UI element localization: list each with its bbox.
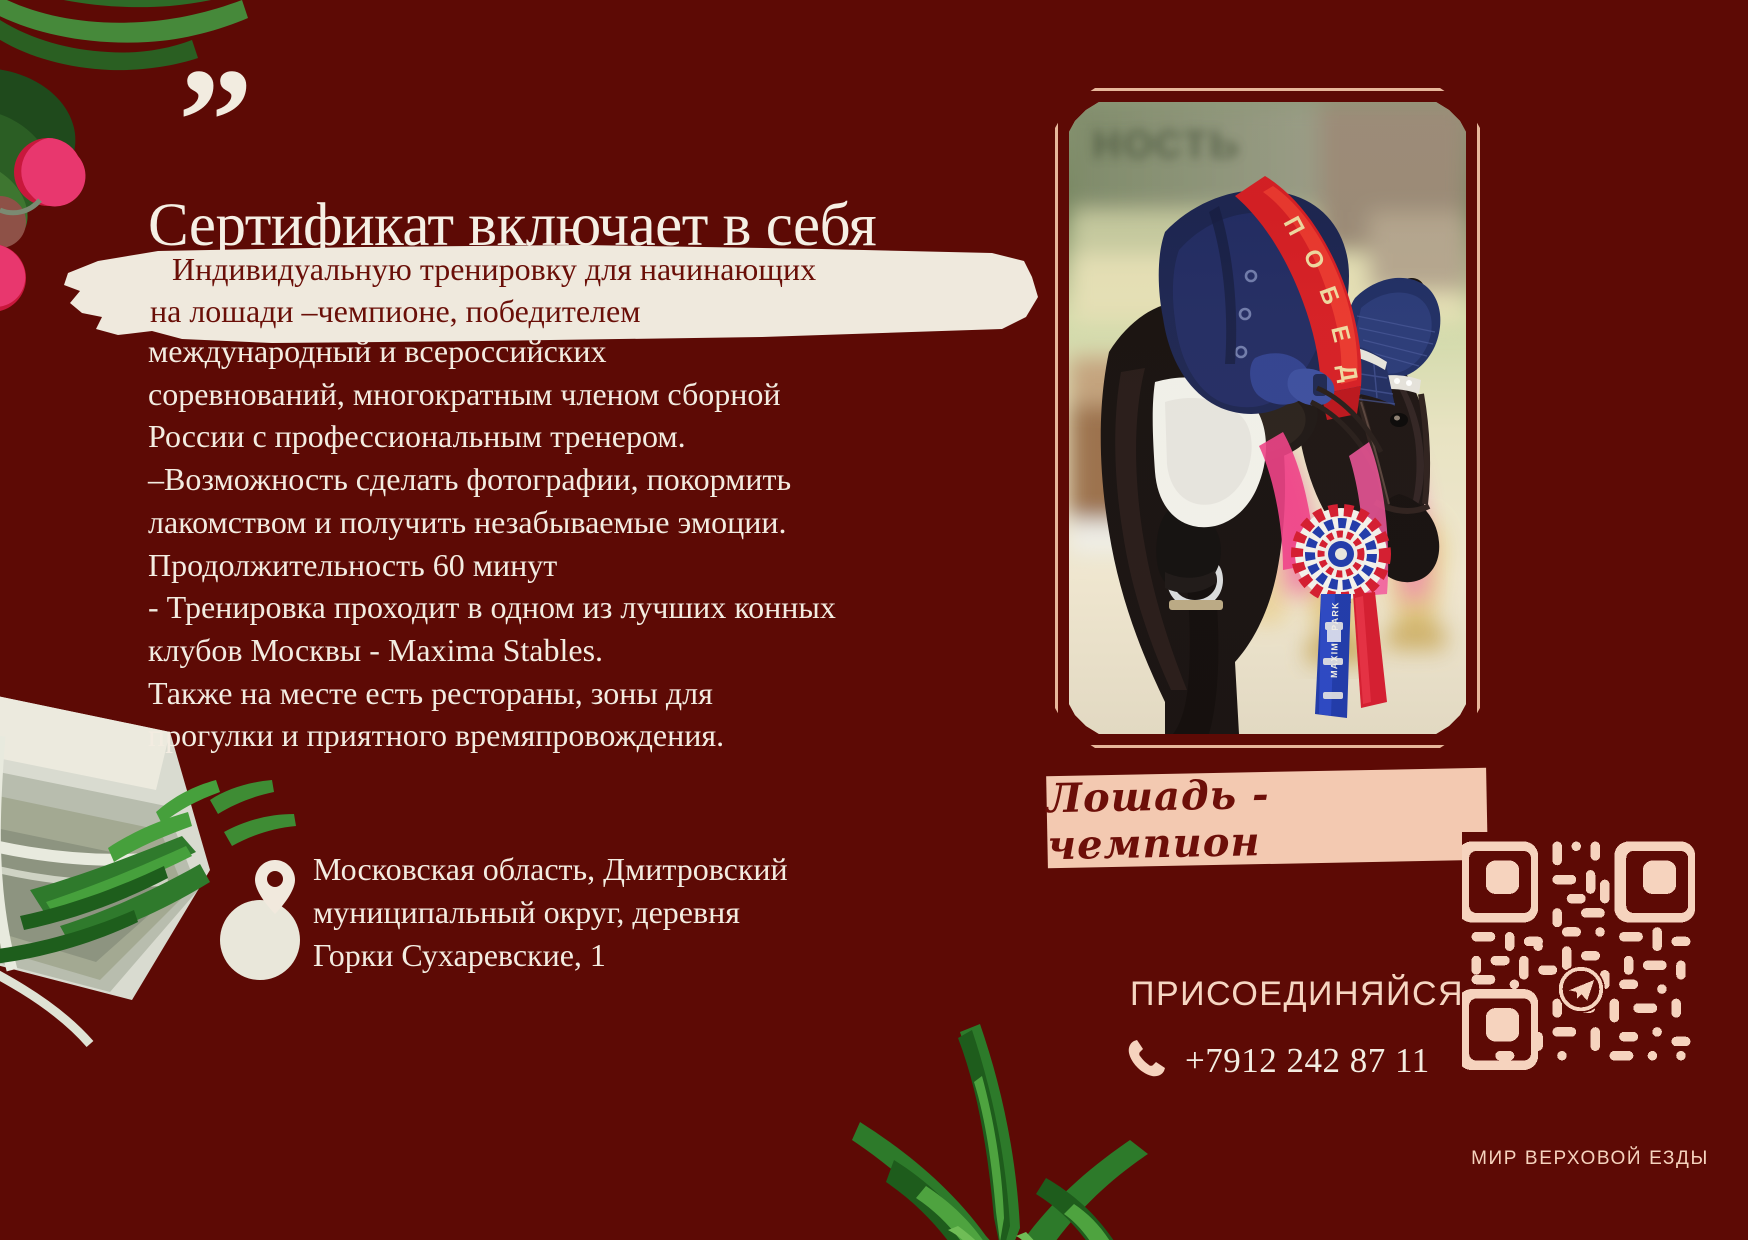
address-line-1: Московская область, Дмитровский — [313, 848, 788, 891]
body-line: соревнований, многократным членом сборно… — [148, 373, 1068, 416]
quote-mark-icon: ” — [178, 46, 247, 196]
phone-icon — [1125, 1036, 1169, 1085]
qr-code-telegram-icon[interactable] — [1462, 832, 1700, 1070]
body-line: международный и всероссийских — [148, 330, 1068, 373]
body-line: России с профессиональным тренером. — [148, 415, 1068, 458]
body-line: Продолжительность 60 минут — [148, 544, 1068, 587]
phone-row[interactable]: +7912 242 87 11 — [1125, 1036, 1430, 1085]
fir-sprig-decoration — [830, 990, 1290, 1240]
body-line: лакомством и получить незабываемые эмоци… — [148, 501, 1068, 544]
body-line: клубов Москвы - Maxima Stables. — [148, 629, 1068, 672]
highlight-line-1: Индивидуальную тренировку для начинающих — [150, 248, 1050, 290]
join-label: ПРИСОЕДИНЯЙСЯ! — [1130, 975, 1475, 1014]
address-line-3: Горки Сухаревские, 1 — [313, 934, 788, 977]
body-text: международный и всероссийских соревнован… — [148, 330, 1068, 757]
certificate-poster: ” Сертификат включает в себя Индивидуаль… — [0, 0, 1748, 1240]
highlight-line-2: на лошади –чемпионе, победителем — [150, 293, 640, 329]
body-line: –Возможность сделать фотографии, покорми… — [148, 458, 1068, 501]
address-text: Московская область, Дмитровский муниципа… — [313, 848, 788, 978]
phone-number: +7912 242 87 11 — [1185, 1041, 1430, 1081]
body-line: прогулки и приятного времяпровождения. — [148, 714, 1068, 757]
horse-photo: ность — [1055, 88, 1480, 748]
body-line: Также на месте есть рестораны, зоны для — [148, 672, 1068, 715]
address-line-2: муниципальный округ, деревня — [313, 891, 788, 934]
brand-name: МИР ВЕРХОВОЙ ЕЗДЫ — [1455, 1148, 1725, 1170]
photo-image: ность — [1069, 102, 1466, 734]
body-line: - Тренировка проходит в одном из лучших … — [148, 586, 1068, 629]
address-block: Московская область, Дмитровский муниципа… — [255, 848, 1015, 978]
highlight-text: Индивидуальную тренировку для начинающих… — [150, 248, 1050, 332]
location-pin-icon — [255, 860, 295, 919]
photo-caption: Лошадь - чемпион — [1046, 768, 1488, 868]
